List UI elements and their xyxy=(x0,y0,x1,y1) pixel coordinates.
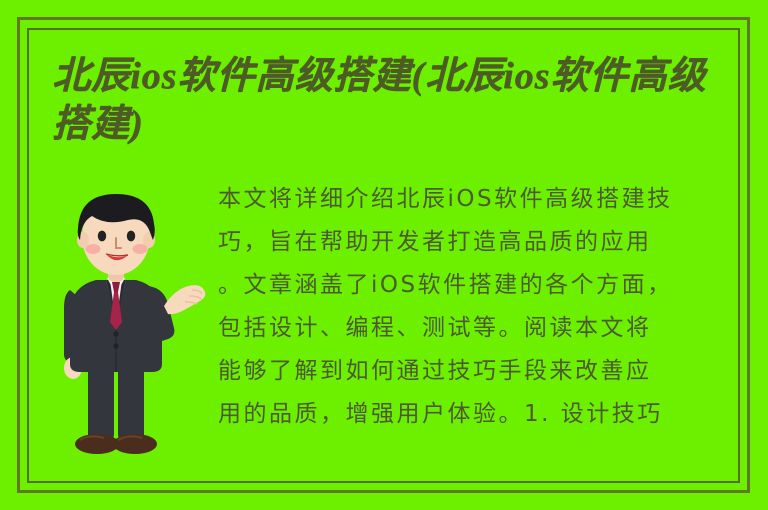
title-line-1: 北辰ios软件高级搭建(北辰ios软件高级 xyxy=(52,52,712,100)
body-line-1: 本文将详细介绍北辰iOS软件高级搭建技 xyxy=(218,178,734,221)
open-hand-shape xyxy=(164,285,205,314)
left-eye xyxy=(98,231,106,242)
shoes-shape xyxy=(75,434,157,454)
body-line-6: 用的品质，增强用户体验。1. 设计技巧 xyxy=(218,393,734,436)
right-eye xyxy=(127,231,135,242)
title-line-2: 搭建) xyxy=(52,100,712,148)
poster-canvas: 北辰ios软件高级搭建(北辰ios软件高级 搭建) xyxy=(0,0,768,510)
head-shape xyxy=(77,194,155,275)
right-arm-shape xyxy=(147,285,205,341)
body-line-2: 巧，旨在帮助开发者打造高品质的应用 xyxy=(218,221,734,264)
page-title: 北辰ios软件高级搭建(北辰ios软件高级 搭建) xyxy=(52,52,712,148)
body-line-3: 。文章涵盖了iOS软件搭建的各个方面， xyxy=(218,264,734,307)
body-line-5: 能够了解到如何通过技巧手段来改善应 xyxy=(218,350,734,393)
right-blush xyxy=(133,244,148,254)
businessman-illustration xyxy=(52,182,212,467)
body-line-4: 包括设计、编程、测试等。阅读本文将 xyxy=(218,307,734,350)
left-blush xyxy=(86,244,101,254)
article-summary: 本文将详细介绍北辰iOS软件高级搭建技 巧，旨在帮助开发者打造高品质的应用 。文… xyxy=(218,178,734,436)
